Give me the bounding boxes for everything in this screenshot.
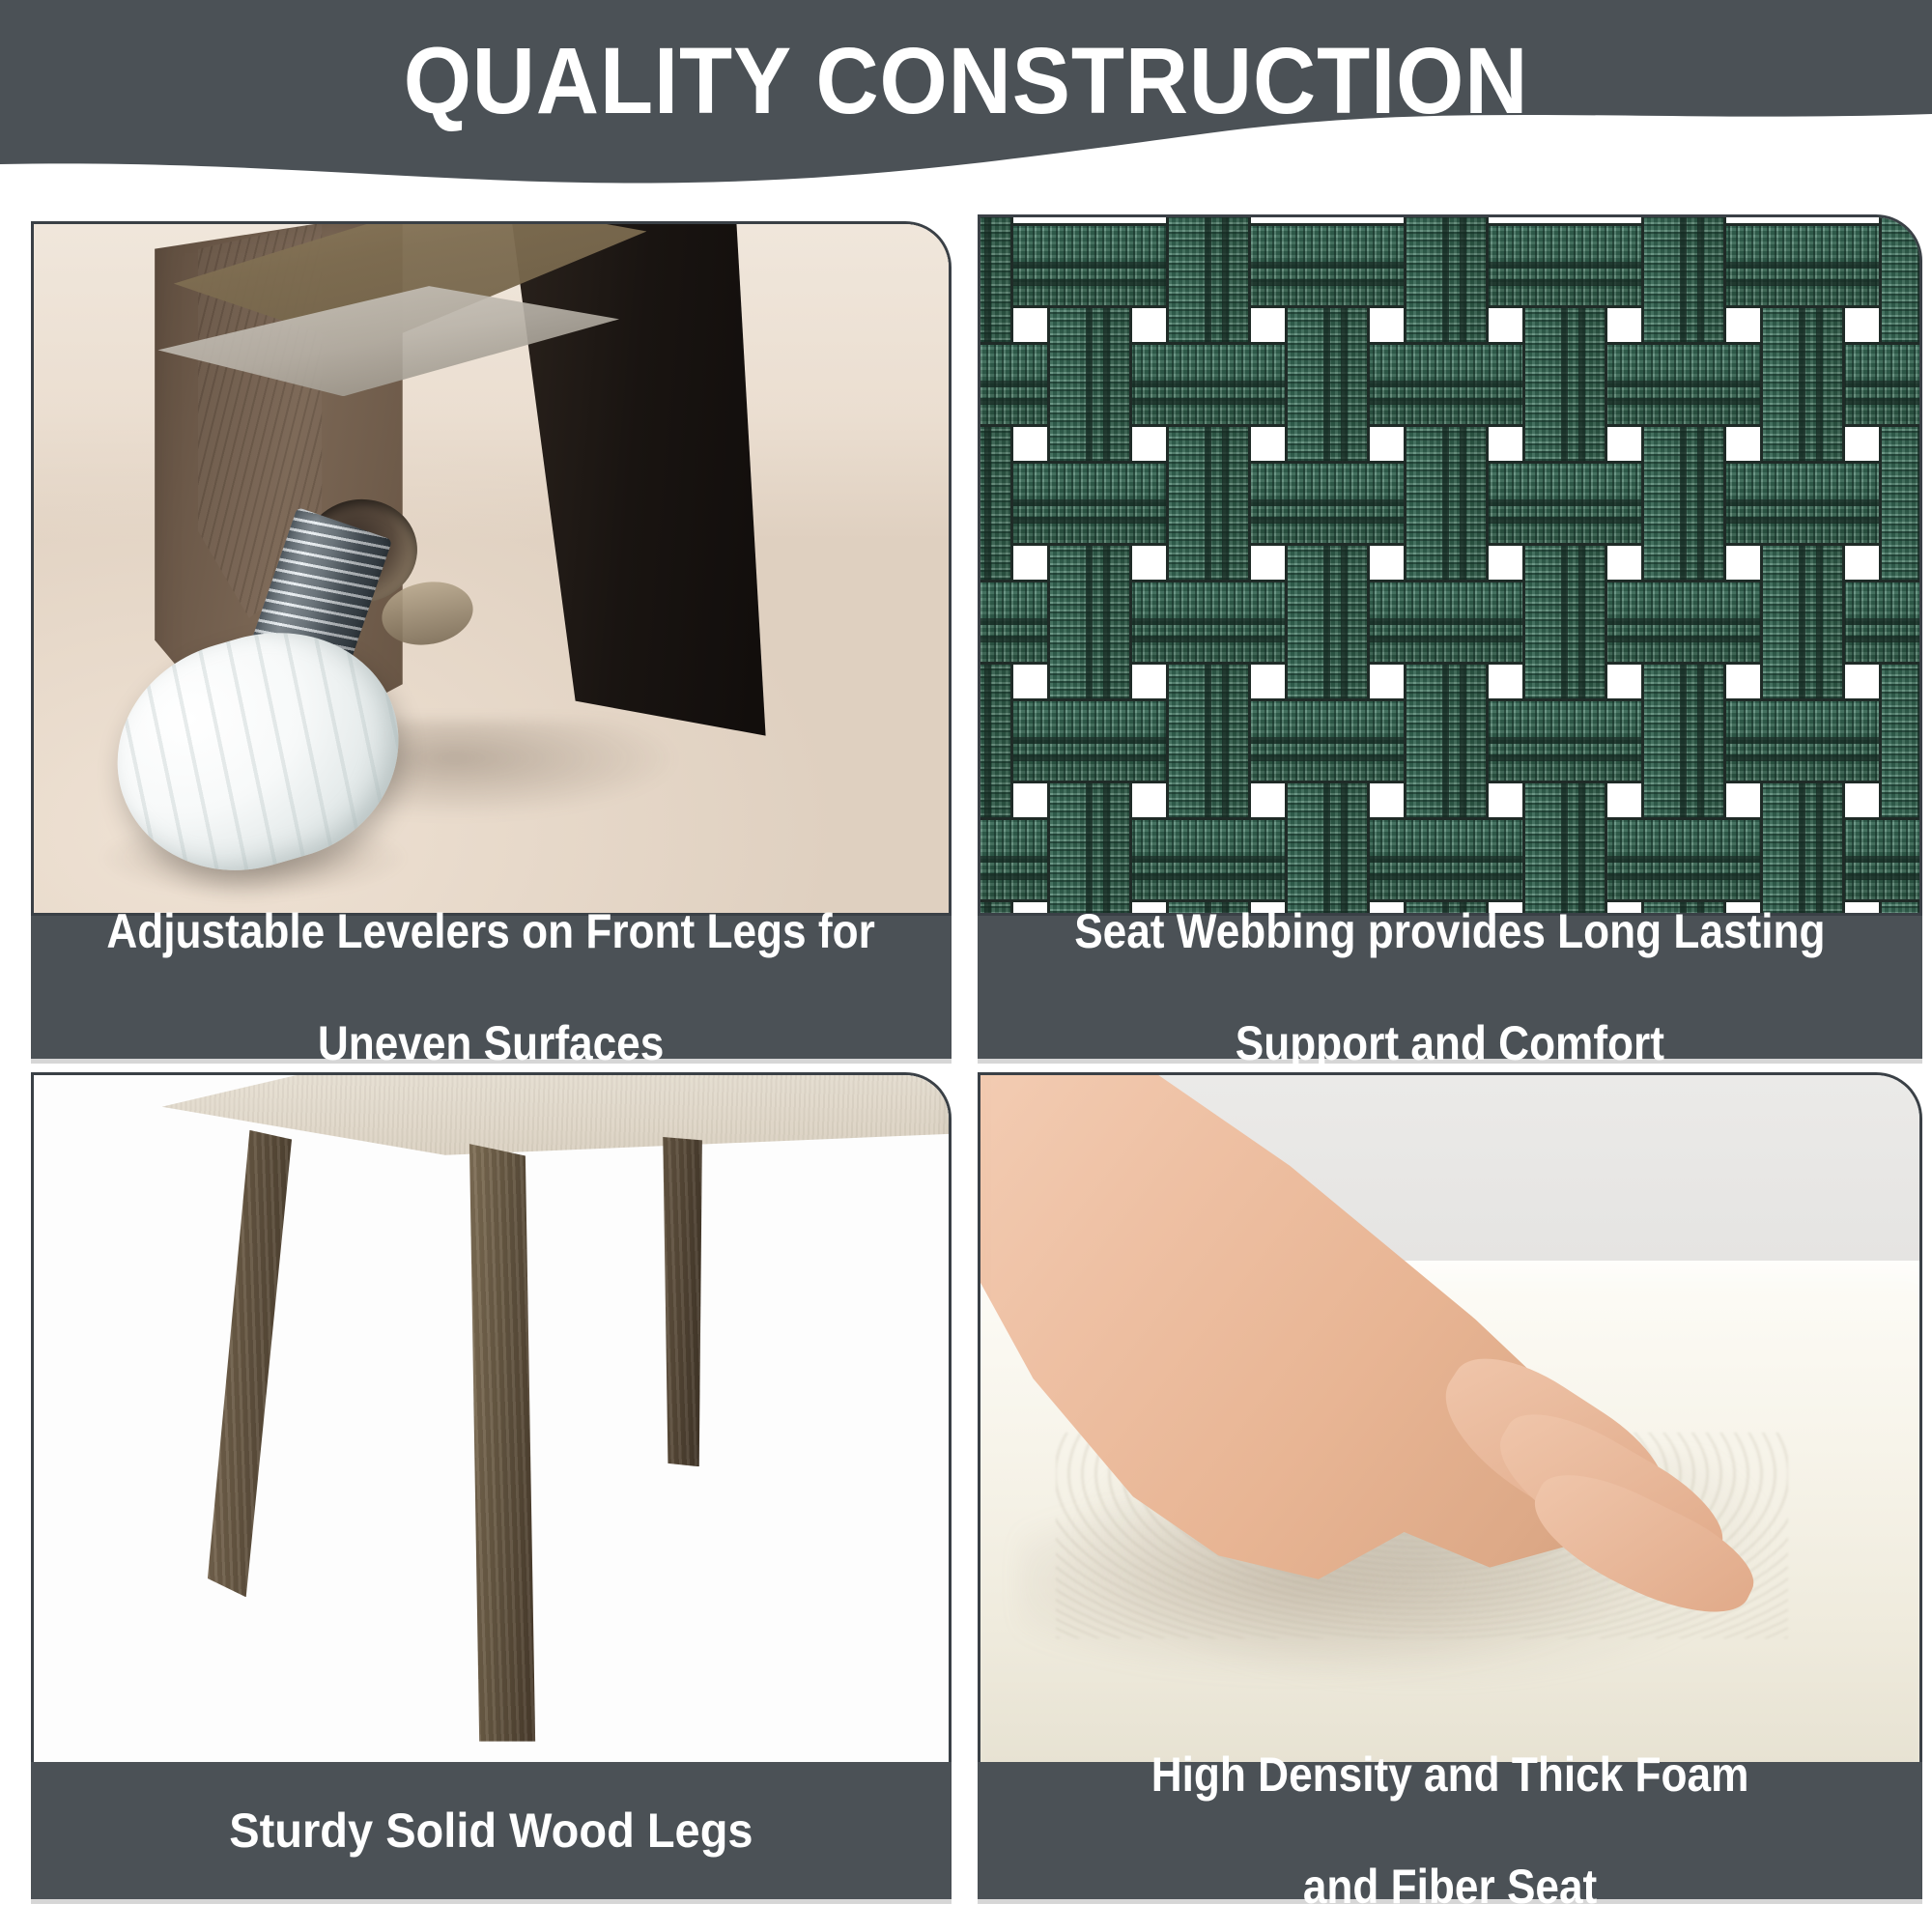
webbing-rib [1103, 308, 1110, 461]
webbing-strap-vertical [1641, 427, 1726, 580]
webbing-rib [1799, 783, 1805, 913]
webbing-rib [984, 902, 991, 913]
webbing-rib [1680, 665, 1687, 817]
webbing-rib [1442, 427, 1449, 580]
webbing-strap-vertical [1285, 546, 1370, 698]
panel-adjustable-levelers[interactable]: Adjustable Levelers on Front Legs for Un… [31, 221, 952, 1063]
webbing-strap-vertical [1641, 665, 1726, 817]
photo-solid-wood-legs [31, 1072, 952, 1762]
webbing-strap-vertical [980, 217, 1013, 342]
photo-seat-webbing [978, 214, 1922, 916]
webbing-rib [1561, 546, 1568, 698]
webbing-strap-vertical [1404, 427, 1489, 580]
webbing-rib [1799, 308, 1805, 461]
webbing-strap-vertical [1047, 308, 1132, 461]
caption-line-1: Sturdy Solid Wood Legs [229, 1803, 753, 1859]
webbing-rib [1816, 783, 1823, 913]
webbing-rib [1323, 308, 1330, 461]
caption-line-2: Uneven Surfaces [107, 1015, 875, 1071]
webbing-rib [1578, 308, 1585, 461]
webbing-rib [1918, 902, 1919, 913]
webbing-rib [1442, 217, 1449, 342]
webbing-strap-vertical [1879, 665, 1919, 817]
webbing-rib [1697, 217, 1704, 342]
webbing-rib [1561, 783, 1568, 913]
panel-seat-webbing[interactable]: Seat Webbing provides Long Lasting Suppo… [978, 214, 1922, 1063]
webbing-strap-vertical [980, 665, 1013, 817]
webbing-rib [1697, 427, 1704, 580]
webbing-rib [1578, 783, 1585, 913]
webbing-rib [1460, 427, 1466, 580]
webbing-rib [1222, 217, 1229, 342]
webbing-rib [1222, 427, 1229, 580]
webbing-rib [1341, 546, 1348, 698]
webbing-rib [1103, 783, 1110, 913]
webbing-strap-vertical [1285, 308, 1370, 461]
webbing-rib [1442, 665, 1449, 817]
caption-line-1: Seat Webbing provides Long Lasting [1074, 903, 1825, 959]
webbing-strap-vertical [1760, 546, 1845, 698]
webbing-rib [984, 427, 991, 580]
webbing-rib [1460, 217, 1466, 342]
webbing-strap-vertical [1879, 427, 1919, 580]
webbing-rib [1341, 783, 1348, 913]
webbing-rib [984, 665, 991, 817]
webbing-rib [1103, 546, 1110, 698]
caption-line-1: High Density and Thick Foam [1151, 1747, 1749, 1803]
caption-line-2: and Fiber Seat [1151, 1859, 1749, 1915]
caption-solid-wood-legs: Sturdy Solid Wood Legs [31, 1762, 952, 1899]
caption-line-2: Support and Comfort [1074, 1015, 1825, 1071]
webbing-rib [1816, 546, 1823, 698]
caption-adjustable-levelers: Adjustable Levelers on Front Legs for Un… [31, 916, 952, 1059]
webbing-strap-vertical [1760, 783, 1845, 913]
webbing-rib [1918, 665, 1919, 817]
webbing-rib [1205, 427, 1211, 580]
infographic-page: QUALITY CONSTRUCTION [0, 0, 1932, 1932]
webbing-rib [1697, 665, 1704, 817]
wood-legs-illustration [34, 1075, 949, 1762]
webbing-rib [1222, 665, 1229, 817]
webbing-rib [1561, 308, 1568, 461]
webbing-rib [1086, 783, 1093, 913]
webbing-strap-vertical [980, 427, 1013, 580]
panel-high-density-foam[interactable]: High Density and Thick Foam and Fiber Se… [978, 1072, 1922, 1903]
photo-high-density-foam [978, 1072, 1922, 1762]
webbing-rib [1816, 308, 1823, 461]
webbing-strap-vertical [1166, 217, 1251, 342]
webbing-strap-vertical [1641, 217, 1726, 342]
feature-grid: Adjustable Levelers on Front Legs for Un… [0, 203, 1932, 1932]
webbing-strap-vertical [1404, 665, 1489, 817]
webbing-strap-vertical [1522, 783, 1607, 913]
webbing-strap-vertical [1879, 902, 1919, 913]
webbing-strap-vertical [1760, 308, 1845, 461]
webbing-rib [1086, 308, 1093, 461]
photo-adjustable-levelers [31, 221, 952, 916]
webbing-rib [1341, 308, 1348, 461]
caption-high-density-foam: High Density and Thick Foam and Fiber Se… [978, 1762, 1922, 1899]
header-banner: QUALITY CONSTRUCTION [0, 0, 1932, 203]
webbing-weave-illustration [980, 217, 1919, 913]
webbing-strap-vertical [1166, 427, 1251, 580]
webbing-strap-vertical [1285, 783, 1370, 913]
webbing-strap-vertical [1047, 546, 1132, 698]
webbing-rib [984, 217, 991, 342]
webbing-strap-vertical [1522, 546, 1607, 698]
leveler-illustration [34, 224, 949, 913]
webbing-rib [1323, 546, 1330, 698]
webbing-rib [1086, 546, 1093, 698]
webbing-rib [1460, 665, 1466, 817]
webbing-rib [1578, 546, 1585, 698]
webbing-strap-vertical [1522, 308, 1607, 461]
webbing-rib [1680, 427, 1687, 580]
webbing-strap-vertical [980, 902, 1013, 913]
webbing-rib [1918, 427, 1919, 580]
foam-hand-illustration [980, 1075, 1919, 1762]
caption-line-1: Adjustable Levelers on Front Legs for [107, 903, 875, 959]
webbing-rib [1918, 217, 1919, 342]
caption-seat-webbing: Seat Webbing provides Long Lasting Suppo… [978, 916, 1922, 1059]
webbing-rib [1680, 217, 1687, 342]
page-title: QUALITY CONSTRUCTION [68, 33, 1864, 129]
panel-solid-wood-legs[interactable]: Sturdy Solid Wood Legs [31, 1072, 952, 1903]
webbing-strap-vertical [1404, 217, 1489, 342]
webbing-rib [1323, 783, 1330, 913]
webbing-strap-vertical [1879, 217, 1919, 342]
webbing-rib [1205, 217, 1211, 342]
webbing-rib [1205, 665, 1211, 817]
webbing-rib [1799, 546, 1805, 698]
webbing-strap-vertical [1166, 665, 1251, 817]
webbing-strap-vertical [1047, 783, 1132, 913]
